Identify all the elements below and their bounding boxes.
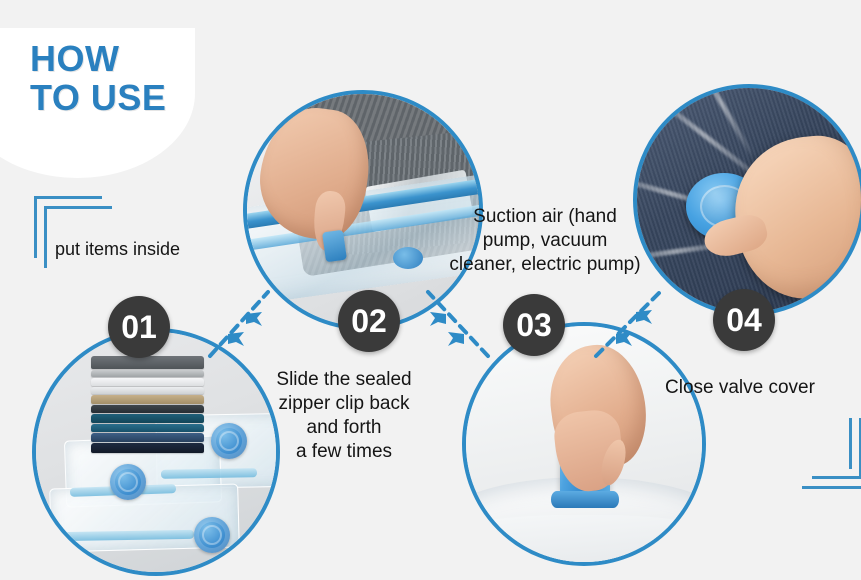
corner-bracket-bottom-right-icon [792,418,861,496]
zipper-clip [322,230,347,263]
caption-line: a few times [256,440,432,464]
caption-line: Close valve cover [665,376,855,400]
step-badge-01: 01 [108,296,170,358]
caption-line: Suction air (hand [440,205,650,229]
step-badge-02: 02 [338,290,400,352]
step-photo-04 [633,84,861,316]
connector-arrow-step1-to-step2-icon [206,286,278,360]
step-caption-01: put items inside [55,238,245,261]
folded-clothes-stack [91,356,204,445]
step-badge-04: 04 [713,289,775,351]
step-photo-01 [32,328,280,576]
title-line-1: HOW [30,40,230,79]
caption-line: pump, vacuum [440,229,650,253]
how-to-use-infographic: HOW TO USE [0,0,861,580]
page-title: HOW TO USE [30,40,230,118]
step-caption-02: Slide the sealed zipper clip back and fo… [256,368,432,465]
caption-line: Slide the sealed [256,368,432,392]
step-caption-04: Close valve cover [665,376,855,400]
caption-line: zipper clip back [256,392,432,416]
title-line-2: TO USE [30,79,230,118]
caption-line: put items inside [55,238,245,261]
caption-line: cleaner, electric pump) [440,253,650,277]
step-badge-03: 03 [503,294,565,356]
connector-arrow-step3-to-step4-icon [590,286,670,360]
step-caption-03: Suction air (hand pump, vacuum cleaner, … [440,205,650,277]
caption-line: and forth [256,416,432,440]
connector-arrow-step2-to-step3-icon [420,286,498,360]
